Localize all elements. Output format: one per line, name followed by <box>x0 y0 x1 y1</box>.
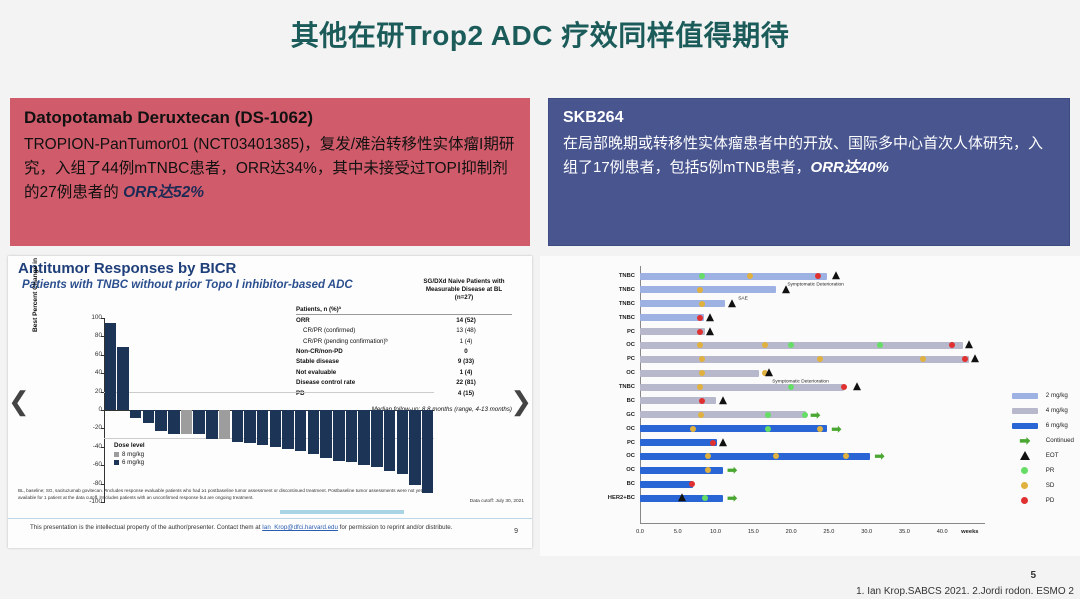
legend-eot-triangle-icon <box>1020 451 1030 460</box>
callout-skb264: SKB264 在局部晚期或转移性实体瘤患者中的开放、国际多中心首次人体研究，入组… <box>548 98 1070 246</box>
left-figure-waterfall: Antitumor Responses by BICR Patients wit… <box>8 256 532 548</box>
swimmer-continued-arrow-icon: ➡ <box>810 411 820 419</box>
legend-item-8mgkg: 8 mg/kg <box>114 451 145 458</box>
callout-highlight-datopotamab: ORR达52% <box>123 184 204 201</box>
waterfall-bar <box>168 410 179 434</box>
swimmer-annotation: Symptomatic Deterioration <box>787 282 844 287</box>
callout-body-text: 在局部晚期或转移性实体瘤患者中的开放、国际多中心首次人体研究，入组了17例患者，… <box>563 135 1043 176</box>
page-title: 其他在研Trop2 ADC 疗效同样值得期待 <box>0 14 1080 54</box>
y-axis-label: Best Percent Change in SoD From Baseline… <box>32 256 39 332</box>
swimmer-marker-sd <box>762 342 768 348</box>
data-cutoff: Data cutoff: July 30, 2021 <box>470 499 524 504</box>
legend-row: 4 mg/kg <box>1012 403 1074 418</box>
waterfall-plot: Best Percent Change in SoD From Baseline… <box>104 318 434 502</box>
legend-key <box>1012 423 1038 429</box>
waterfall-bar <box>308 410 319 454</box>
swimmer-marker-pd <box>962 356 968 362</box>
legend-key: ➡ <box>1012 436 1038 445</box>
legend-dot-icon <box>1021 497 1028 504</box>
swimmer-marker-sd <box>697 287 703 293</box>
legend-row: PR <box>1012 463 1074 478</box>
gridline <box>104 392 434 393</box>
swimmer-marker-pr <box>702 495 708 501</box>
swimmer-annotation: Symptomatic Deterioration <box>772 380 829 385</box>
legend-row: SD <box>1012 478 1074 493</box>
legend-key <box>1012 451 1038 460</box>
swimmer-row-label: TNBC <box>619 315 635 321</box>
swimmer-eot-icon <box>971 354 979 362</box>
y-tick-label: 40 <box>82 369 102 376</box>
swimmer-bar <box>640 481 693 488</box>
swimmer-marker-pd <box>710 440 716 446</box>
waterfall-bar <box>333 410 344 461</box>
swimmer-row-label: GC <box>626 412 635 418</box>
legend-bar-icon <box>1012 393 1038 399</box>
callout-highlight-skb264: ORR达40% <box>811 159 889 176</box>
y-tick-label: 20 <box>82 388 102 395</box>
y-tick-label: -20 <box>82 424 102 431</box>
swimmer-bar <box>640 425 827 432</box>
y-tick-label: 80 <box>82 332 102 339</box>
right-figure-swimmer: TNBCTNBCTNBCTNBCPCOCPCOCTNBCBCGC➡OC➡PCOC… <box>540 256 1080 556</box>
waterfall-bar <box>397 410 408 474</box>
callout-datopotamab: Datopotamab Deruxtecan (DS-1062) TROPION… <box>10 98 530 246</box>
x-tick-label: 25.0 <box>823 529 834 535</box>
swimmer-bar <box>640 273 827 280</box>
swimmer-bar <box>640 384 844 391</box>
legend-label: 8 mg/kg <box>122 451 144 458</box>
waterfall-bar <box>105 323 116 410</box>
legend-dot-icon <box>1021 467 1028 474</box>
x-tick-label: 15.0 <box>748 529 759 535</box>
swimmer-x-axis <box>640 523 985 524</box>
swimmer-legend: 2 mg/kg4 mg/kg6 mg/kg➡ContinuedEOTPRSDPD <box>1012 388 1074 508</box>
swimmer-marker-pd <box>697 329 703 335</box>
y-tick-mark <box>101 428 105 429</box>
notice-pre: This presentation is the intellectual pr… <box>30 524 262 531</box>
swimmer-marker-pd <box>841 384 847 390</box>
swimmer-plot: TNBCTNBCTNBCTNBCPCOCPCOCTNBCBCGC➡OC➡PCOC… <box>640 266 980 524</box>
swimmer-eot-icon <box>728 299 736 307</box>
legend-label: 2 mg/kg <box>1046 392 1068 399</box>
y-tick-mark <box>101 318 105 319</box>
dose-legend-title: Dose level <box>114 442 145 449</box>
y-tick-label: 100 <box>82 314 102 321</box>
swimmer-row-label: HER2+BC <box>608 495 635 501</box>
waterfall-bar <box>295 410 306 451</box>
callout-body-text: TROPION-PanTumor01 (NCT03401385)，复发/难治转移… <box>24 136 514 201</box>
legend-bar-icon <box>1012 408 1038 414</box>
y-tick-label: -80 <box>82 480 102 487</box>
prev-arrow-icon[interactable]: ❮ <box>8 386 30 417</box>
swimmer-marker-sd <box>747 273 753 279</box>
x-tick-label: 5.0 <box>674 529 682 535</box>
notice-post: for permission to reprint and/or distrib… <box>338 524 453 531</box>
waterfall-bar <box>371 410 382 467</box>
swimmer-row-label: OC <box>626 370 635 376</box>
dose-legend: Dose level 8 mg/kg 6 mg/kg <box>114 442 145 466</box>
legend-key <box>1012 482 1038 489</box>
swimmer-marker-pd <box>699 398 705 404</box>
swimmer-eot-icon <box>719 396 727 404</box>
legend-key <box>1012 497 1038 504</box>
swimmer-marker-pd <box>689 481 695 487</box>
left-figure-title: Antitumor Responses by BICR <box>18 260 236 277</box>
legend-dot-icon <box>1021 482 1028 489</box>
legend-label: 4 mg/kg <box>1046 407 1068 414</box>
slide-root: 其他在研Trop2 ADC 疗效同样值得期待 Datopotamab Derux… <box>0 0 1080 599</box>
swimmer-marker-pr <box>699 273 705 279</box>
waterfall-bar <box>232 410 243 442</box>
waterfall-bar <box>244 410 255 443</box>
waterfall-bar <box>346 410 357 462</box>
swimmer-eot-icon <box>706 327 714 335</box>
y-tick-label: 60 <box>82 351 102 358</box>
swimmer-marker-pr <box>765 412 771 418</box>
waterfall-bar <box>384 410 395 471</box>
swimmer-row-label: TNBC <box>619 301 635 307</box>
swimmer-marker-pr <box>877 342 883 348</box>
y-tick-label: 0 <box>82 406 102 413</box>
divider <box>8 518 532 519</box>
waterfall-bar <box>320 410 331 458</box>
legend-row: 2 mg/kg <box>1012 388 1074 403</box>
swimmer-continued-arrow-icon: ➡ <box>831 425 841 433</box>
legend-label: Continued <box>1046 437 1074 444</box>
next-arrow-icon[interactable]: ❯ <box>510 386 532 417</box>
swimmer-row-label: TNBC <box>619 384 635 390</box>
swimmer-eot-icon <box>853 382 861 390</box>
legend-swatch-icon <box>114 452 119 457</box>
swimmer-marker-sd <box>697 342 703 348</box>
swimmer-annotation: SAE <box>738 296 748 301</box>
legend-label: PD <box>1046 497 1055 504</box>
legend-continued-arrow-icon: ➡ <box>1019 436 1030 445</box>
swimmer-bar <box>640 439 717 446</box>
swimmer-continued-arrow-icon: ➡ <box>727 494 737 502</box>
legend-label: SD <box>1046 482 1055 489</box>
table-row: Patients, n (%)ª <box>296 304 512 315</box>
table-col-header: SG/DXd Naive Patients with Measurable Di… <box>416 278 512 302</box>
x-tick-label: 40.0 <box>937 529 948 535</box>
swimmer-marker-sd <box>699 370 705 376</box>
swimmer-row-label: TNBC <box>619 273 635 279</box>
callout-heading-datopotamab: Datopotamab Deruxtecan (DS-1062) <box>24 108 516 128</box>
waterfall-bar <box>422 410 433 493</box>
legend-row: PD <box>1012 493 1074 508</box>
swimmer-marker-pr <box>788 342 794 348</box>
decorative-bar <box>280 510 404 514</box>
swimmer-marker-pd <box>815 273 821 279</box>
waterfall-bar <box>219 410 230 439</box>
swimmer-eot-icon <box>832 271 840 279</box>
swimmer-marker-sd <box>843 453 849 459</box>
swimmer-row-label: OC <box>626 453 635 459</box>
author-email-link[interactable]: Ian_Krop@dfci.harvard.edu <box>262 524 338 531</box>
waterfall-bar <box>181 410 192 434</box>
swimmer-row-label: PC <box>627 356 635 362</box>
x-tick-label: 10.0 <box>710 529 721 535</box>
swimmer-eot-icon <box>965 341 973 349</box>
swimmer-marker-sd <box>697 384 703 390</box>
citation: 1. Ian Krop.SABCS 2021. 2.Jordi rodon. E… <box>856 586 1074 597</box>
legend-key <box>1012 467 1038 474</box>
y-tick-label: -40 <box>82 443 102 450</box>
waterfall-bar <box>257 410 268 445</box>
table-row-value <box>420 304 512 315</box>
left-figure-slide-number: 9 <box>514 528 518 535</box>
swimmer-continued-arrow-icon: ➡ <box>727 466 737 474</box>
swimmer-row-label: PC <box>627 329 635 335</box>
legend-row: ➡Continued <box>1012 433 1074 448</box>
table-row-header: Patients, n (%)ª <box>296 304 420 315</box>
swimmer-bar <box>640 411 806 418</box>
swimmer-marker-sd <box>773 453 779 459</box>
y-tick-mark <box>101 502 105 503</box>
legend-item-6mgkg: 6 mg/kg <box>114 459 145 466</box>
waterfall-bar <box>282 410 293 449</box>
legend-label: PR <box>1046 467 1055 474</box>
swimmer-marker-sd <box>690 426 696 432</box>
swimmer-marker-sd <box>699 356 705 362</box>
legend-bar-icon <box>1012 423 1038 429</box>
swimmer-marker-sd <box>705 453 711 459</box>
swimmer-marker-pd <box>697 315 703 321</box>
x-tick-label: 20.0 <box>786 529 797 535</box>
swimmer-eot-icon <box>719 438 727 446</box>
swimmer-bar <box>640 328 705 335</box>
swimmer-bar <box>640 314 704 321</box>
swimmer-row-label: OC <box>626 426 635 432</box>
swimmer-row-label: PC <box>627 440 635 446</box>
table-col-header-row: SG/DXd Naive Patients with Measurable Di… <box>296 278 512 302</box>
left-figure-footnote: BL, baseline; SG, sacituzumab govitecan.… <box>18 488 438 501</box>
callout-body-skb264: 在局部晚期或转移性实体瘤患者中的开放、国际多中心首次人体研究，入组了17例患者，… <box>563 132 1055 180</box>
swimmer-marker-sd <box>817 356 823 362</box>
y-tick-mark <box>101 484 105 485</box>
waterfall-bar <box>358 410 369 465</box>
x-tick-label: 35.0 <box>899 529 910 535</box>
waterfall-bar <box>155 410 166 431</box>
waterfall-bar <box>130 410 141 418</box>
legend-key <box>1012 408 1038 414</box>
waterfall-bar <box>193 410 204 434</box>
swimmer-marker-sd <box>705 467 711 473</box>
legend-label: 6 mg/kg <box>122 459 144 466</box>
swimmer-row-label: OC <box>626 467 635 473</box>
swimmer-marker-sd <box>920 356 926 362</box>
slide-number: 5 <box>1030 570 1036 581</box>
swimmer-eot-icon <box>765 368 773 376</box>
swimmer-marker-sd <box>817 426 823 432</box>
x-tick-label: 0.0 <box>636 529 644 535</box>
x-axis-unit-label: weeks <box>961 529 978 535</box>
swimmer-marker-pr <box>788 384 794 390</box>
swimmer-bar <box>640 300 725 307</box>
y-tick-mark <box>101 447 105 448</box>
x-tick-label: 30.0 <box>861 529 872 535</box>
swimmer-marker-pr <box>802 412 808 418</box>
swimmer-marker-pr <box>765 426 771 432</box>
waterfall-bar <box>270 410 281 447</box>
swimmer-row-label: TNBC <box>619 287 635 293</box>
legend-swatch-icon <box>114 460 119 465</box>
swimmer-eot-icon <box>678 493 686 501</box>
waterfall-bar <box>206 410 217 439</box>
swimmer-bar <box>640 453 870 460</box>
legend-row: 6 mg/kg <box>1012 418 1074 433</box>
swimmer-row-label: OC <box>626 342 635 348</box>
y-tick-label: -60 <box>82 461 102 468</box>
waterfall-bar <box>143 410 154 423</box>
swimmer-bar <box>640 286 776 293</box>
legend-label: EOT <box>1046 452 1059 459</box>
waterfall-bar <box>409 410 420 485</box>
swimmer-marker-sd <box>699 301 705 307</box>
swimmer-continued-arrow-icon: ➡ <box>874 452 884 460</box>
y-tick-mark <box>101 465 105 466</box>
waterfall-bar <box>117 347 128 410</box>
callout-body-datopotamab: TROPION-PanTumor01 (NCT03401385)，复发/难治转移… <box>24 133 516 205</box>
presentation-notice: This presentation is the intellectual pr… <box>30 524 452 531</box>
swimmer-row-label: BC <box>627 398 635 404</box>
swimmer-bar <box>640 342 963 349</box>
swimmer-eot-icon <box>706 313 714 321</box>
legend-row: EOT <box>1012 448 1074 463</box>
swimmer-marker-sd <box>698 412 704 418</box>
legend-label: 6 mg/kg <box>1046 422 1068 429</box>
swimmer-marker-pd <box>949 342 955 348</box>
callout-heading-skb264: SKB264 <box>563 109 1055 127</box>
swimmer-row-label: BC <box>627 481 635 487</box>
legend-key <box>1012 393 1038 399</box>
